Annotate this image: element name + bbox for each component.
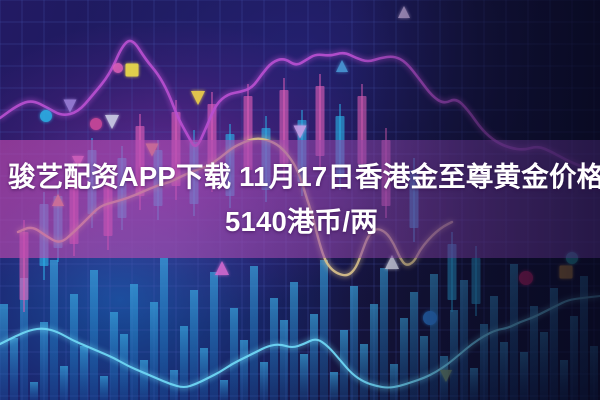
promo-banner: 骏艺配资APP下载 11月17日香港金至尊黄金价格4 5140港币/两 [0, 0, 600, 400]
banner-title-line-1: 骏艺配资APP下载 11月17日香港金至尊黄金价格4 [0, 154, 600, 199]
banner-title-line-2: 5140港币/两 [0, 199, 600, 244]
banner-title: 骏艺配资APP下载 11月17日香港金至尊黄金价格4 5140港币/两 [0, 140, 600, 258]
